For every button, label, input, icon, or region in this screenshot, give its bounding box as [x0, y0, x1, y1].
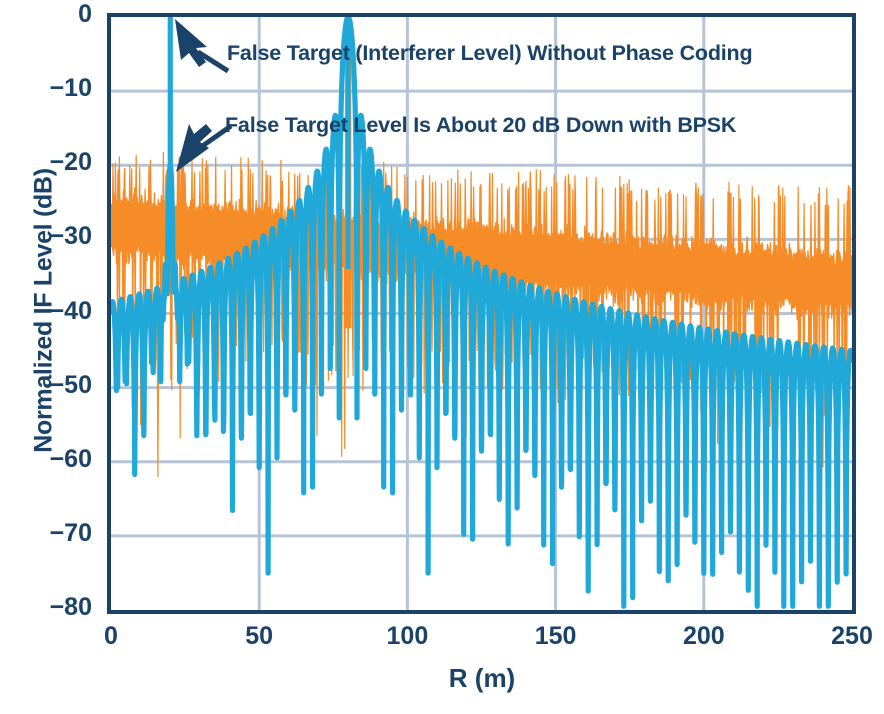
- y-tick--10: −10: [22, 74, 92, 103]
- annotation-no-phase-coding: False Target (Interferer Level) Without …: [227, 41, 752, 66]
- y-tick--20: −20: [22, 148, 92, 177]
- y-tick--40: −40: [22, 297, 92, 326]
- y-tick-0: 0: [22, 0, 92, 29]
- x-tick-0: 0: [66, 622, 156, 651]
- trace-false-target-spike: [168, 17, 173, 210]
- plot-traces: [111, 17, 852, 610]
- x-tick-150: 150: [511, 622, 601, 651]
- chart-figure: Normalized IF Level (dB) R (m) 0−10−20−3…: [0, 0, 884, 714]
- annotation-bpsk-suppression: False Target Level Is About 20 dB Down w…: [225, 113, 736, 138]
- plot-area: [107, 13, 856, 614]
- y-tick--70: −70: [22, 519, 92, 548]
- y-tick--80: −80: [22, 593, 92, 622]
- x-axis-title: R (m): [107, 663, 857, 694]
- x-tick-100: 100: [362, 622, 452, 651]
- x-tick-200: 200: [659, 622, 749, 651]
- x-tick-250: 250: [807, 622, 884, 651]
- x-tick-50: 50: [214, 622, 304, 651]
- y-tick--60: −60: [22, 445, 92, 474]
- y-tick--30: −30: [22, 222, 92, 251]
- y-tick--50: −50: [22, 371, 92, 400]
